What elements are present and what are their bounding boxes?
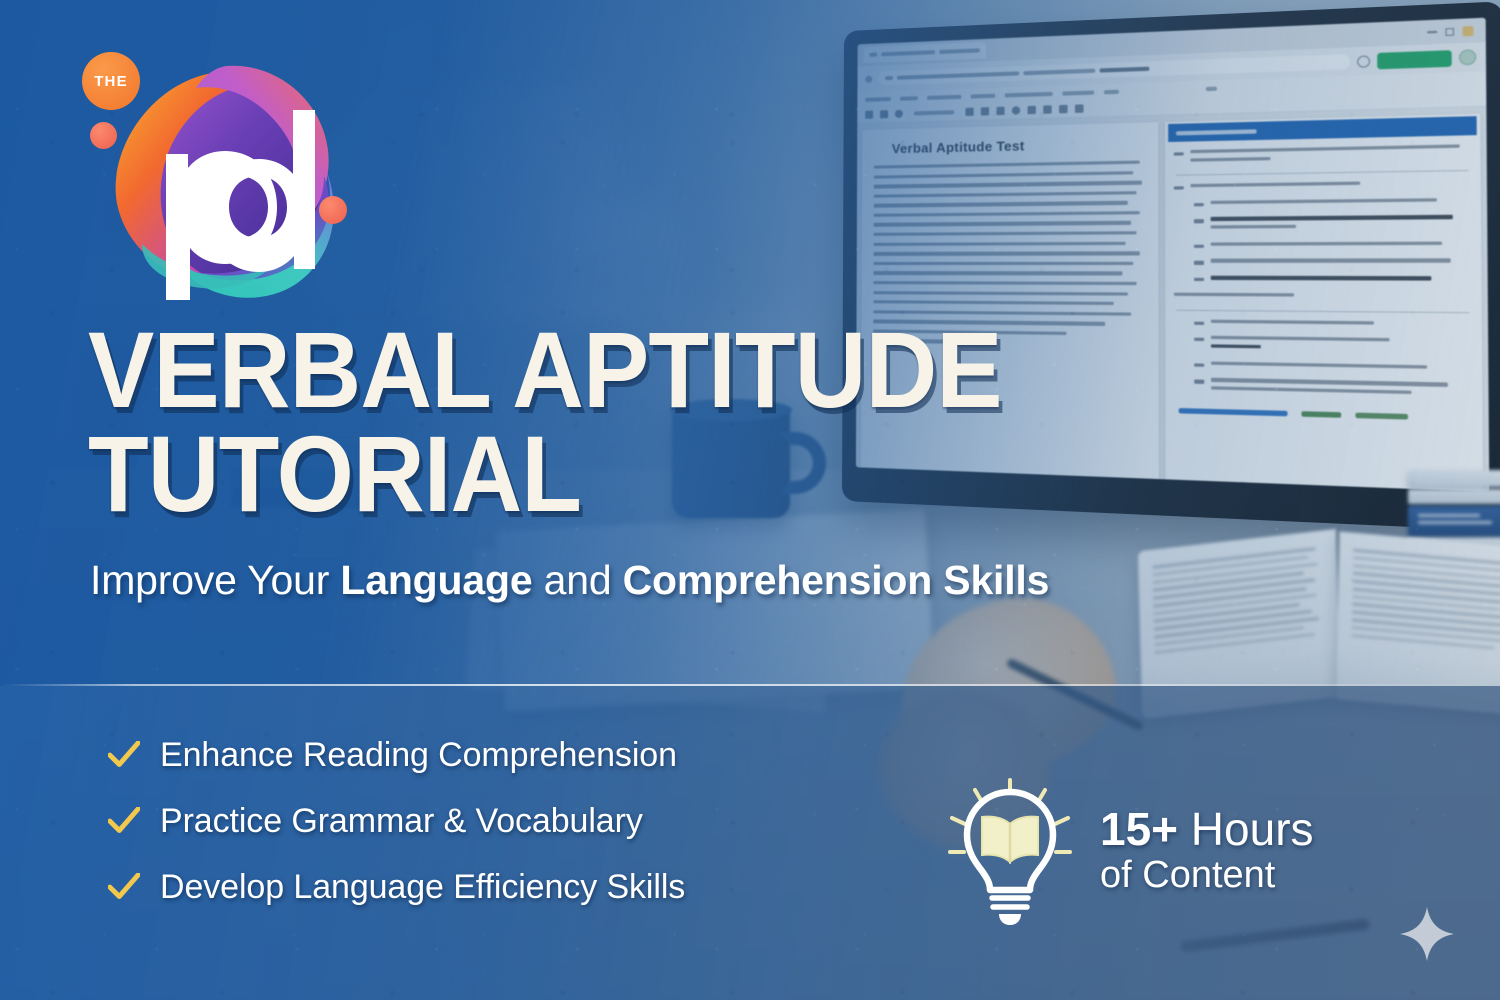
page-title: VERBAL APTITUDE TUTORIAL [88, 318, 1082, 525]
check-icon [108, 873, 140, 901]
subtitle-part-2: and [532, 557, 622, 603]
feature-list: Enhance Reading Comprehension Practice G… [108, 722, 685, 920]
subtitle-bold-1: Language [340, 557, 532, 603]
hours-subtext: of Content [1100, 854, 1314, 897]
hours-amount: 15+ [1100, 803, 1178, 855]
list-item: Practice Grammar & Vocabulary [108, 788, 685, 854]
subtitle: Improve Your Language and Comprehension … [90, 558, 1210, 603]
list-item: Develop Language Efficiency Skills [108, 854, 685, 920]
check-icon [108, 741, 140, 769]
hours-text: 15+ Hours of Content [1100, 806, 1314, 897]
list-item-label: Enhance Reading Comprehension [160, 736, 677, 775]
promo-poster: Verbal Aptitude Test [0, 0, 1500, 1000]
section-divider [0, 684, 1500, 686]
accent-dot-icon [90, 122, 117, 149]
list-item-label: Develop Language Efficiency Skills [160, 868, 685, 907]
the-badge: THE [82, 52, 140, 110]
check-icon [108, 807, 140, 835]
hours-badge: 15+ Hours of Content [944, 776, 1314, 926]
subtitle-bold-2: Comprehension Skills [623, 557, 1050, 603]
list-item-label: Practice Grammar & Vocabulary [160, 802, 643, 841]
brand-logo[interactable]: THE [76, 48, 356, 313]
lightbulb-book-icon [944, 776, 1076, 926]
sparkle-icon [1398, 905, 1456, 963]
headline-line-1: VERBAL APTITUDE [88, 309, 1002, 430]
headline-line-2: TUTORIAL [88, 422, 1082, 526]
subtitle-part-1: Improve Your [90, 557, 340, 603]
accent-dot-icon [319, 196, 347, 224]
hours-unit: Hours [1178, 803, 1313, 855]
list-item: Enhance Reading Comprehension [108, 722, 685, 788]
